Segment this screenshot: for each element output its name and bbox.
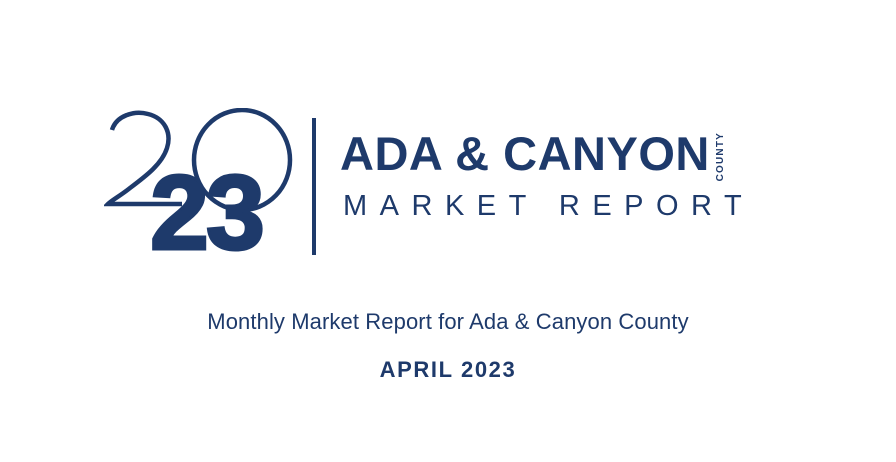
logo-wordmark: ADA & CANYON COUNTY MARKET REPORT	[340, 108, 810, 258]
report-logo-lockup: 23 ADA & CANYON COUNTY MARKET REPORT	[104, 108, 804, 260]
year-solid-23: 23	[150, 160, 262, 266]
logo-divider	[312, 118, 316, 255]
report-caption-block: Monthly Market Report for Ada & Canyon C…	[0, 306, 896, 384]
wordmark-subtitle: MARKET REPORT	[343, 192, 754, 221]
year-mark-2023: 23	[104, 108, 300, 258]
report-period: APRIL 2023	[0, 356, 896, 384]
wordmark-title: ADA & CANYON	[340, 130, 710, 177]
wordmark-title-row: ADA & CANYON COUNTY	[340, 130, 726, 181]
report-description: Monthly Market Report for Ada & Canyon C…	[0, 306, 896, 338]
wordmark-county-superscript: COUNTY	[715, 132, 726, 181]
report-cover-page: 23 ADA & CANYON COUNTY MARKET REPORT Mon…	[0, 0, 896, 462]
